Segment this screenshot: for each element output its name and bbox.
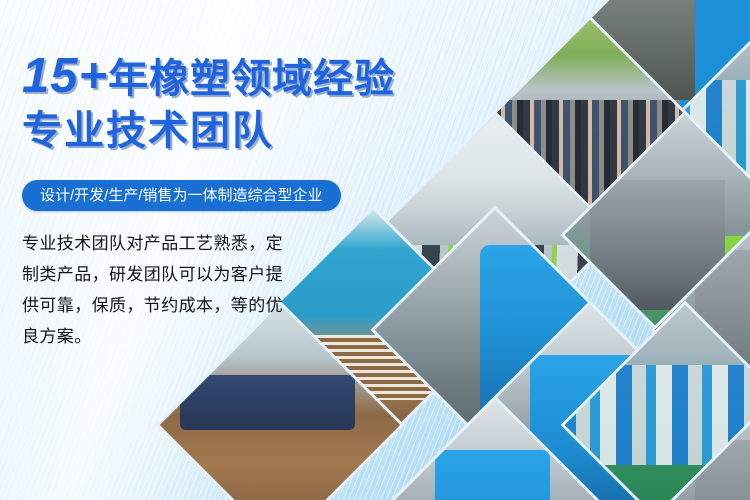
collage-tile-assembly-line-workers (655, 20, 750, 260)
collage-photo-factory-queue-outdoors (470, 20, 710, 260)
body-paragraph: 专业技术团队对产品工艺熟悉，定制类产品，研发团队可以为客户提供可靠，保质，节约成… (22, 228, 290, 352)
collage-tile-inspection-bench (565, 115, 750, 355)
collage-photo-warehouse-shelving (655, 210, 750, 450)
collage-tile-packing-station (565, 305, 750, 500)
collage-tile-qc-testing-station (470, 305, 710, 500)
collage-tile-press-machine-area (655, 400, 750, 500)
headline-line-1: 15+年橡塑领域经验 (22, 52, 452, 102)
collage-tile-factory-queue-outdoors (470, 20, 710, 260)
collage-photo-packing-station (565, 305, 750, 500)
text-pane: 15+年橡塑领域经验 专业技术团队 设计/开发/生产/销售为一体制造综合型企业 … (0, 0, 420, 500)
collage-photo-qc-testing-station (470, 305, 710, 500)
years-number: 15+ (22, 49, 108, 103)
collage-photo-molding-machine-operator (565, 0, 750, 165)
collage-photo-assembly-line-workers (655, 20, 750, 260)
headline-block: 15+年橡塑领域经验 专业技术团队 (22, 52, 452, 152)
collage-tile-warehouse-shelving (655, 210, 750, 450)
promo-banner: 15+年橡塑领域经验 专业技术团队 设计/开发/生产/销售为一体制造综合型企业 … (0, 0, 750, 500)
capability-pill: 设计/开发/生产/销售为一体制造综合型企业 (22, 180, 341, 211)
collage-photo-press-machine-area (655, 400, 750, 500)
collage-tile-molding-machine-operator (565, 0, 750, 165)
collage-photo-inspection-bench (565, 115, 750, 355)
headline-line-2: 专业技术团队 (22, 111, 452, 152)
headline-line-1-text: 年橡塑领域经验 (108, 57, 395, 101)
